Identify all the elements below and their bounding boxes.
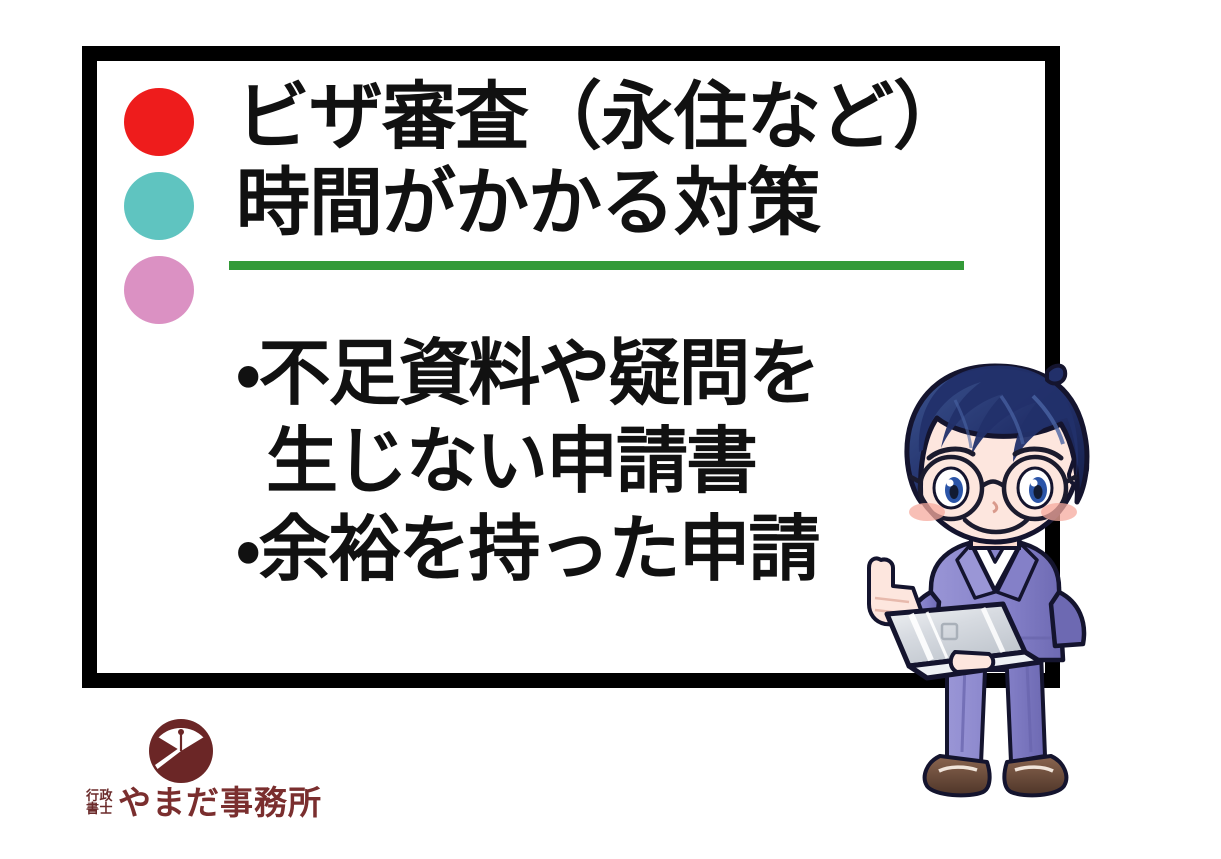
title-line-2: 時間がかかる対策 xyxy=(236,160,996,246)
body-line-2: 生じない申請書 xyxy=(236,418,936,506)
body-line-1: ・不足資料や疑問を xyxy=(236,330,936,418)
dot-column xyxy=(124,88,198,324)
green-divider xyxy=(229,261,964,270)
dot-red-icon xyxy=(124,88,194,156)
title-line-1: ビザ審査（永住など） xyxy=(236,74,996,160)
dot-teal-icon xyxy=(124,172,194,240)
slide-root: ビザ審査（永住など） 時間がかかる対策 ・不足資料や疑問を 生じない申請書 ・余… xyxy=(0,0,1221,859)
body-line-3: ・余裕を持った申請 xyxy=(236,506,936,594)
office-logo: 行政 書士 やまだ事務所 xyxy=(86,718,346,830)
logo-qualification: 行政 書士 xyxy=(86,789,113,820)
logo-office-name: やまだ事務所 xyxy=(118,786,322,820)
logo-qualification-line-2: 書士 xyxy=(86,802,113,815)
dot-pink-icon xyxy=(124,256,194,324)
logo-mark-icon xyxy=(148,718,214,784)
title-block: ビザ審査（永住など） 時間がかかる対策 xyxy=(236,74,996,246)
character-illustration xyxy=(835,352,1155,847)
body-block: ・不足資料や疑問を 生じない申請書 ・余裕を持った申請 xyxy=(236,330,936,594)
logo-text-row: 行政 書士 やまだ事務所 xyxy=(86,786,322,820)
